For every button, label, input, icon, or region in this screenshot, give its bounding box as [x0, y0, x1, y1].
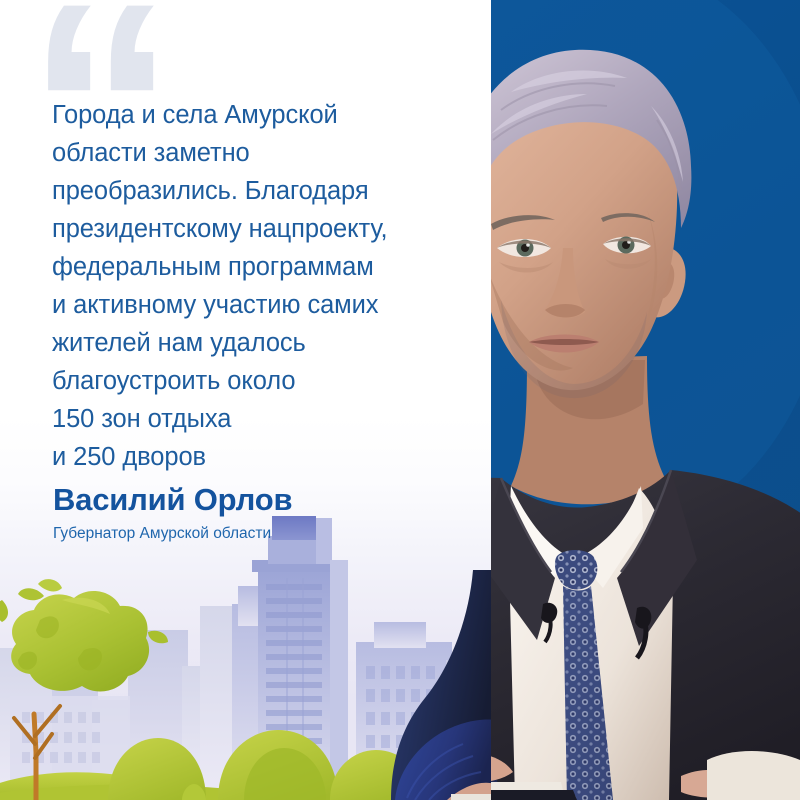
quote-card: “ — [0, 0, 800, 800]
quote-panel: “ — [0, 0, 491, 800]
portrait-panel — [491, 0, 800, 800]
quote-text: Города и села Амурской области заметно п… — [52, 96, 452, 476]
person-name: Василий Орлов — [53, 483, 473, 517]
attribution-block: Василий Орлов Губернатор Амурской област… — [53, 483, 473, 544]
quote-text-block: Города и села Амурской области заметно п… — [52, 96, 452, 476]
portrait-photo — [491, 0, 800, 800]
city-skyline-illustration — [0, 500, 491, 800]
person-role: Губернатор Амурской области — [53, 525, 473, 544]
